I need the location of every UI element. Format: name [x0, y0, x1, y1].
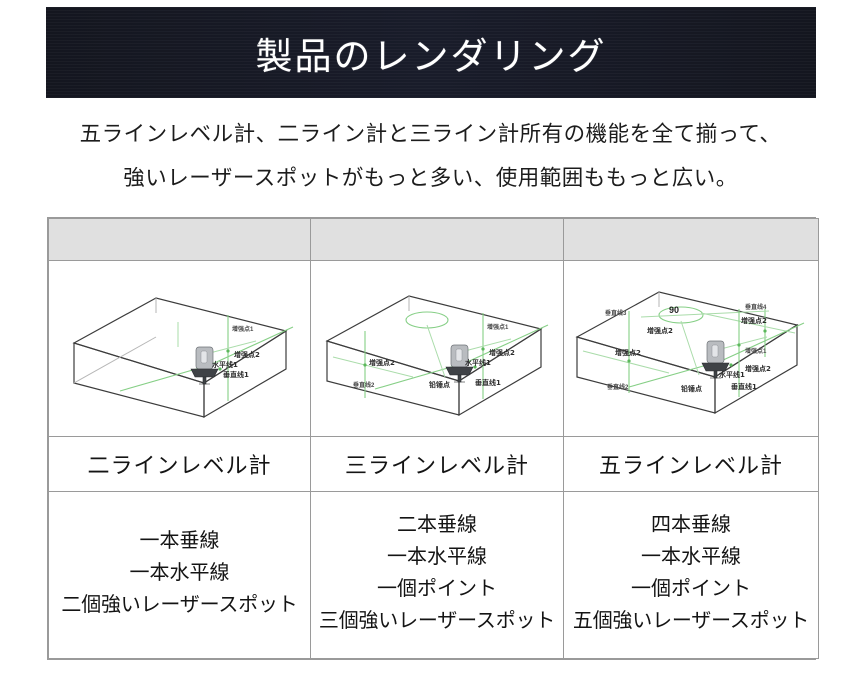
- label-enhance-point-2-mid: 增强点2: [647, 326, 673, 335]
- spec-line: 一本水平線: [130, 558, 230, 588]
- header-banner: 製品のレンダリング: [46, 7, 816, 98]
- spec-line: 三個強いレーザースポット: [319, 606, 555, 636]
- label-enhance-point-2-top: 增强点2: [741, 316, 767, 325]
- table-figure-row: 增强点1 增强点2 水平线1 垂直线1: [49, 261, 819, 437]
- spec-list-five-line: 四本垂線 一本水平線 一個ポイント 五個強いレーザースポット: [564, 504, 818, 646]
- laser-dot: [627, 359, 630, 362]
- room-svg-three-line: 增强点2 增强点1 增强点2 水平线1 垂直线2 铅锤点 垂直线1: [317, 265, 557, 433]
- page-title: 製品のレンダリング: [256, 26, 607, 80]
- spec-line: 一本垂線: [140, 526, 220, 556]
- laser-dot: [737, 343, 740, 346]
- spec-cell-five-line: 四本垂線 一本水平線 一個ポイント 五個強いレーザースポット: [564, 492, 819, 659]
- label-vertical-line-2: 垂直线2: [353, 381, 375, 389]
- spec-line: 五個強いレーザースポット: [573, 606, 809, 636]
- room-svg-five-line: 垂直线3 90 垂直线4 增强点2 增强点2 增强点2 增强点1 增强点2 水平…: [569, 265, 814, 433]
- label-plumb-point: 铅锤点: [429, 380, 450, 389]
- label-horizontal-line-1: 水平线1: [212, 360, 238, 369]
- spec-cell-three-line: 二本垂線 一本水平線 一個ポイント 三個強いレーザースポット: [311, 492, 564, 659]
- label-enhance-point-2-right: 增强点2: [745, 364, 771, 373]
- label-vertical-line-4: 垂直线4: [745, 303, 767, 311]
- spec-line: 一個ポイント: [377, 574, 497, 604]
- model-name-cell-2: 三ラインレベル計: [311, 437, 564, 492]
- laser-dot: [763, 329, 766, 332]
- spec-line: 二本垂線: [397, 510, 477, 540]
- model-name-three-line: 三ラインレベル計: [345, 453, 529, 478]
- three-line-laser-room-diagram: 增强点2 增强点1 增强点2 水平线1 垂直线2 铅锤点 垂直线1: [311, 261, 563, 436]
- label-enhance-point-2-left: 增强点2: [369, 358, 395, 367]
- laser-dot: [481, 347, 484, 350]
- subtitle-block: 五ラインレベル計、二ライン計と三ライン計所有の機能を全て揃って、 強いレーザース…: [0, 112, 861, 200]
- laser-dot: [226, 349, 229, 352]
- spec-line: 一個ポイント: [631, 574, 751, 604]
- laser-dot: [729, 363, 732, 366]
- model-name-cell-3: 五ラインレベル計: [564, 437, 819, 492]
- label-horizontal-line-1: 水平线1: [465, 358, 491, 367]
- table-spec-row: 一本垂線 一本水平線 二個強いレーザースポット 二本垂線 一本水平線 一個ポイン…: [49, 492, 819, 659]
- label-enhance-point-2: 增强点2: [234, 350, 260, 359]
- label-horizontal-line-1: 水平线1: [719, 370, 745, 379]
- model-name-five-line: 五ラインレベル計: [599, 453, 783, 478]
- spec-cell-two-line: 一本垂線 一本水平線 二個強いレーザースポット: [49, 492, 311, 659]
- label-angle-90: 90: [669, 305, 679, 315]
- header-cell-3: [564, 219, 819, 261]
- label-enhance-point-2-left: 增强点2: [615, 348, 641, 357]
- subtitle-line-2: 強いレーザースポットがもっと多い、使用範囲ももっと広い。: [0, 156, 861, 200]
- subtitle-line-1: 五ラインレベル計、二ライン計と三ライン計所有の機能を全て揃って、: [0, 112, 861, 156]
- model-name-two-line: 二ラインレベル計: [87, 453, 271, 478]
- label-enhance-point-1: 增强点1: [232, 325, 254, 333]
- spec-line: 一本水平線: [641, 542, 741, 572]
- five-line-laser-room-diagram: 垂直线3 90 垂直线4 增强点2 增强点2 增强点2 增强点1 增强点2 水平…: [564, 261, 818, 436]
- figure-cell-two-line: 增强点1 增强点2 水平线1 垂直线1: [49, 261, 311, 437]
- spec-line: 一本水平線: [387, 542, 487, 572]
- spec-list-three-line: 二本垂線 一本水平線 一個ポイント 三個強いレーザースポット: [311, 504, 563, 646]
- spec-line: 四本垂線: [651, 510, 731, 540]
- two-line-laser-room-diagram: 增强点1 增强点2 水平线1 垂直线1: [49, 261, 310, 436]
- label-vertical-line-1: 垂直线1: [731, 382, 757, 391]
- spec-list-two-line: 一本垂線 一本水平線 二個強いレーザースポット: [49, 520, 310, 630]
- label-enhance-point-1: 增强点1: [487, 323, 509, 331]
- label-vertical-line-1: 垂直线1: [475, 378, 501, 387]
- figure-cell-three-line: 增强点2 增强点1 增强点2 水平线1 垂直线2 铅锤点 垂直线1: [311, 261, 564, 437]
- label-plumb-point: 铅锤点: [681, 384, 702, 393]
- header-cell-1: [49, 219, 311, 261]
- table-header-row: [49, 219, 819, 261]
- laser-dot: [363, 363, 366, 366]
- spec-line: 二個強いレーザースポット: [61, 590, 297, 620]
- header-cell-2: [311, 219, 564, 261]
- label-vertical-line-1: 垂直线1: [223, 370, 249, 379]
- product-comparison-table: 增强点1 增强点2 水平线1 垂直线1: [47, 217, 816, 660]
- label-vertical-line-3: 垂直线3: [605, 309, 627, 317]
- figure-cell-five-line: 垂直线3 90 垂直线4 增强点2 增强点2 增强点2 增强点1 增强点2 水平…: [564, 261, 819, 437]
- room-svg-two-line: 增强点1 增强点2 水平线1 垂直线1: [60, 265, 300, 433]
- table-model-name-row: 二ラインレベル計 三ラインレベル計 五ラインレベル計: [49, 437, 819, 492]
- label-vertical-line-2: 垂直线2: [607, 383, 629, 391]
- model-name-cell-1: 二ラインレベル計: [49, 437, 311, 492]
- label-enhance-point-1: 增强点1: [745, 347, 767, 355]
- label-enhance-point-2-right: 增强点2: [489, 348, 515, 357]
